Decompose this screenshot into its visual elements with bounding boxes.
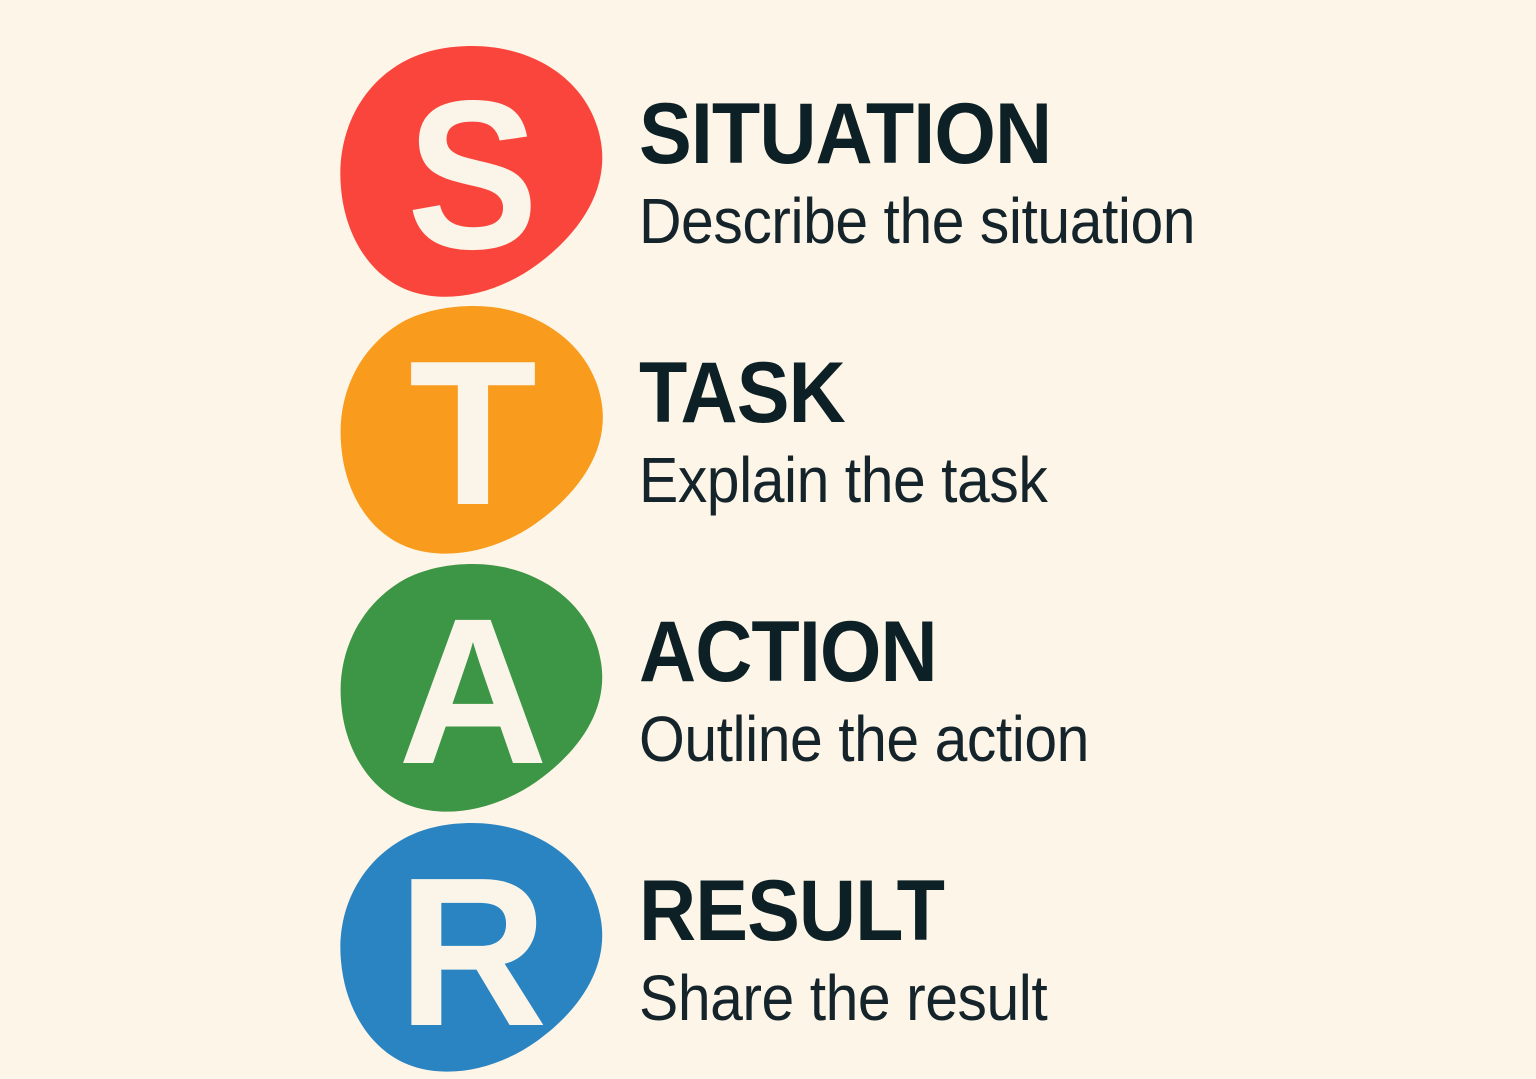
- badge-letter-action: A: [398, 588, 546, 796]
- row-subtitle-task: Explain the task: [639, 448, 1464, 512]
- row-text-action: ACTION Outline the action: [639, 611, 1536, 772]
- badge-letter-situation: S: [407, 69, 537, 281]
- row-subtitle-result: Share the result: [639, 966, 1464, 1030]
- badge-task: T: [339, 304, 605, 560]
- badge-letter-result: R: [398, 846, 546, 1058]
- badge-situation: S: [339, 45, 605, 301]
- star-row-action: A ACTION Outline the action: [0, 562, 1536, 820]
- row-text-task: TASK Explain the task: [639, 352, 1536, 513]
- row-title-task: TASK: [639, 352, 1464, 435]
- row-title-action: ACTION: [639, 611, 1464, 694]
- row-title-result: RESULT: [639, 870, 1464, 953]
- star-row-task: T TASK Explain the task: [0, 303, 1536, 561]
- badge-letter-task: T: [409, 330, 535, 536]
- star-method-diagram: S SITUATION Describe the situation T TAS…: [0, 0, 1536, 1024]
- row-text-situation: SITUATION Describe the situation: [639, 93, 1536, 254]
- row-text-result: RESULT Share the result: [639, 870, 1536, 1031]
- badge-action: A: [339, 563, 605, 819]
- badge-result: R: [339, 822, 605, 1078]
- row-subtitle-action: Outline the action: [639, 707, 1464, 771]
- row-title-situation: SITUATION: [639, 93, 1464, 176]
- row-subtitle-situation: Describe the situation: [639, 189, 1464, 253]
- star-row-result: R RESULT Share the result: [0, 821, 1536, 1079]
- star-row-situation: S SITUATION Describe the situation: [0, 44, 1536, 302]
